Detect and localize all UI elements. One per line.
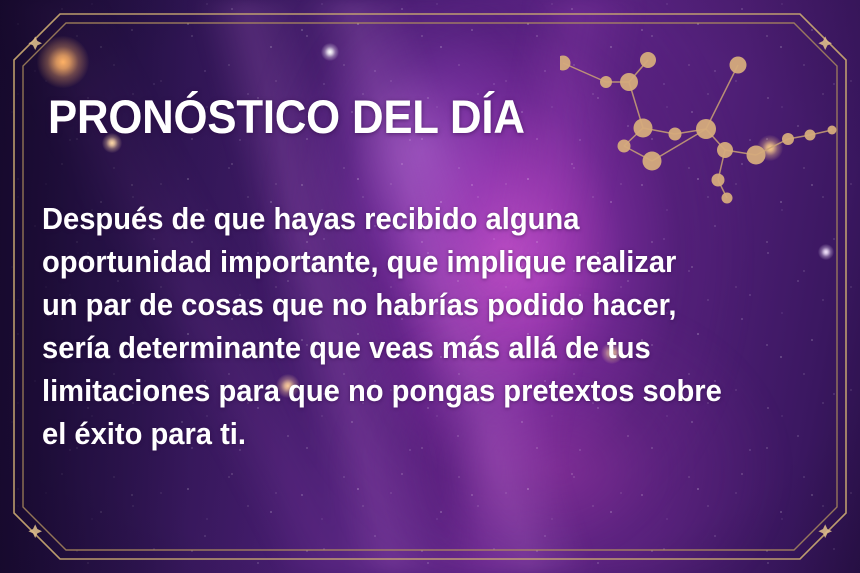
- warm-bright-star-upper-left: [37, 36, 89, 88]
- sparkle-icon-bottom-left: [28, 524, 42, 538]
- forecast-line: Después de que hayas recibido alguna: [42, 198, 796, 241]
- constellation-star-node: [696, 119, 716, 139]
- constellation-line: [652, 129, 706, 161]
- page-title: PRONÓSTICO DEL DÍA: [48, 89, 525, 144]
- constellation-star-node: [828, 126, 837, 135]
- constellation-star-node: [640, 52, 656, 68]
- horoscope-forecast-card: PRONÓSTICO DEL DÍA Después de que hayas …: [0, 0, 860, 573]
- forecast-body-text: Después de que hayas recibido algunaopor…: [42, 198, 796, 456]
- constellation-star-node: [712, 174, 725, 187]
- constellation-star-node: [782, 133, 794, 145]
- constellation-star-node: [620, 73, 638, 91]
- constellation-star-node: [747, 146, 766, 165]
- constellation-line: [810, 130, 832, 135]
- constellation-line: [629, 82, 643, 128]
- constellation-star-node: [717, 142, 733, 158]
- constellation-star-node: [634, 119, 653, 138]
- constellation-line: [643, 128, 675, 134]
- constellation-line: [706, 65, 738, 129]
- constellation-line: [563, 63, 606, 82]
- constellation-star-node: [669, 128, 682, 141]
- constellation-line: [756, 139, 788, 155]
- forecast-line: oportunidad importante, que implique rea…: [42, 241, 796, 284]
- white-star-upper-center: [321, 43, 339, 61]
- constellation-star-node: [730, 57, 747, 74]
- sparkle-icon-top-right: [818, 36, 832, 50]
- constellation-line: [788, 135, 810, 139]
- constellation-nodes: [560, 52, 837, 204]
- constellation-lines: [563, 60, 832, 198]
- constellation-line: [706, 129, 725, 150]
- constellation-star-node: [618, 140, 631, 153]
- white-star-right: [818, 244, 834, 260]
- forecast-line: el éxito para ti.: [42, 413, 796, 456]
- constellation-line: [725, 150, 756, 155]
- sparkle-icon-bottom-right: [818, 524, 832, 538]
- constellation-line: [718, 150, 725, 180]
- constellation-line: [675, 129, 706, 134]
- warm-star-constellation: [757, 135, 783, 161]
- forecast-line: limitaciones para que no pongas pretexto…: [42, 370, 796, 413]
- forecast-line: un par de cosas que no habrías podido ha…: [42, 284, 796, 327]
- forecast-line: sería determinante que veas más allá de …: [42, 327, 796, 370]
- constellation-line: [624, 128, 643, 146]
- constellation-star-node: [600, 76, 612, 88]
- constellation-star-node: [805, 130, 816, 141]
- constellation-star-node: [560, 56, 571, 71]
- constellation-line: [718, 180, 727, 198]
- constellation-star-node: [643, 152, 662, 171]
- constellation-line: [629, 60, 648, 82]
- constellation-line: [624, 146, 652, 161]
- sparkle-icon-top-left: [28, 36, 42, 50]
